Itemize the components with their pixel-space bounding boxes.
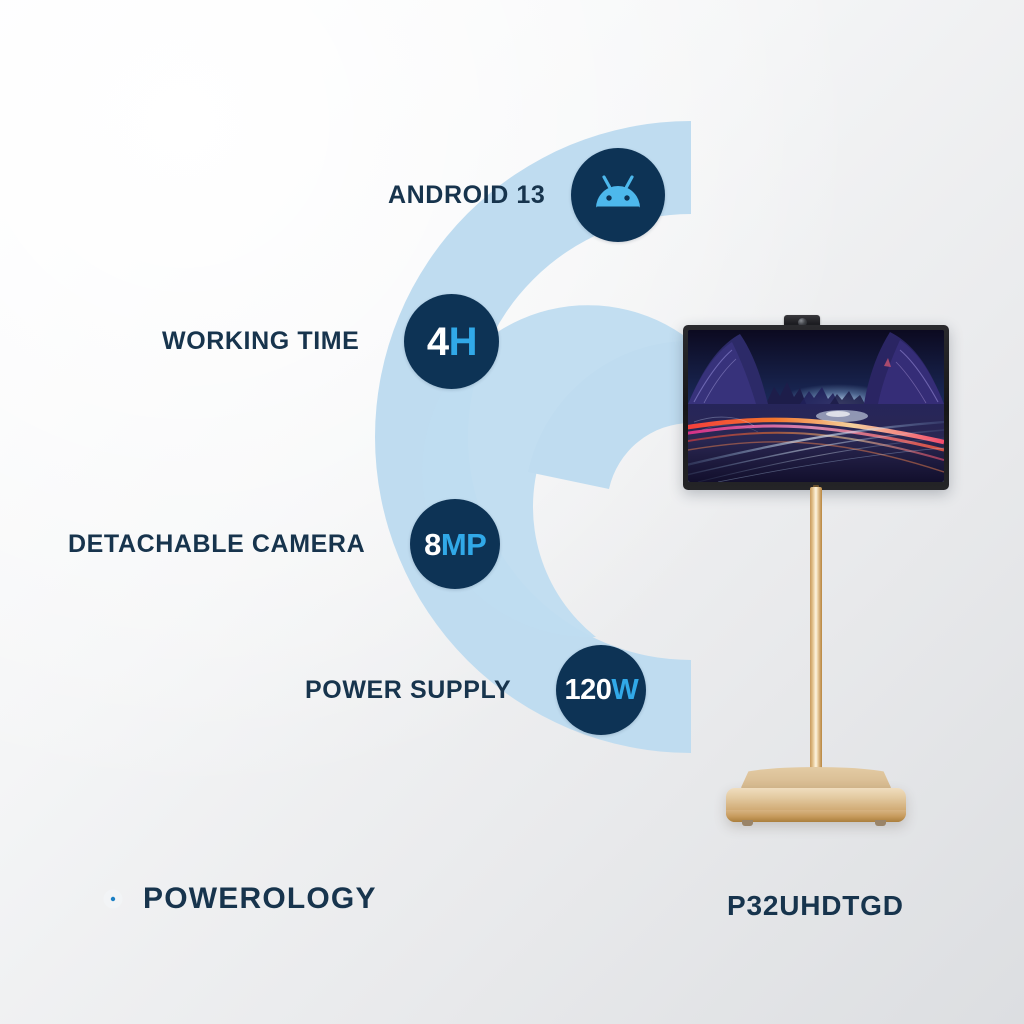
badge-value-detachable-camera: 8: [424, 527, 441, 562]
badge-power-supply: 120W: [556, 645, 646, 735]
badge-unit-power-supply: W: [611, 674, 638, 706]
model-number: P32UHDTGD: [727, 890, 904, 922]
feature-label-android: ANDROID 13: [388, 181, 545, 210]
feature-label-working-time: WORKING TIME: [162, 327, 359, 356]
stand-base-foot-right: [875, 820, 886, 826]
badge-text-working-time: 4H: [427, 322, 477, 362]
badge-value-power-supply: 120: [564, 674, 611, 706]
stand-pole: [810, 487, 822, 784]
badge-text-power-supply: 120W: [564, 676, 638, 705]
badge-unit-detachable-camera: MP: [441, 527, 487, 562]
feature-row-power-supply: POWER SUPPLY 120W: [305, 645, 646, 735]
feature-label-power-supply: POWER SUPPLY: [305, 676, 511, 705]
android-robot-icon: [591, 174, 645, 216]
screen-wallpaper: [688, 330, 944, 482]
brand-lockup: POWEROLOGY: [96, 882, 377, 916]
feature-row-working-time: WORKING TIME 4H: [162, 294, 499, 389]
badge-detachable-camera: 8MP: [410, 499, 500, 589]
infographic-canvas: ANDROID 13 WORKING TIME 4H DETACHABLE CA…: [0, 0, 1024, 1024]
product-image-tv-stand: [672, 305, 962, 815]
badge-android: [571, 148, 665, 242]
badge-unit-working-time: H: [449, 320, 477, 364]
badge-text-detachable-camera: 8MP: [424, 529, 486, 560]
tv-bezel: [683, 325, 949, 490]
feature-row-detachable-camera: DETACHABLE CAMERA 8MP: [68, 499, 500, 589]
watermark-inner-arc-b: [528, 341, 691, 489]
brand-name: POWEROLOGY: [143, 882, 377, 916]
tv-screen: [688, 330, 944, 482]
feature-row-android: ANDROID 13: [388, 148, 665, 242]
stand-base-foot-left: [742, 820, 753, 826]
powerology-logo-icon: [96, 882, 130, 916]
badge-value-working-time: 4: [427, 320, 449, 364]
badge-working-time: 4H: [404, 294, 499, 389]
feature-label-detachable-camera: DETACHABLE CAMERA: [68, 530, 365, 559]
